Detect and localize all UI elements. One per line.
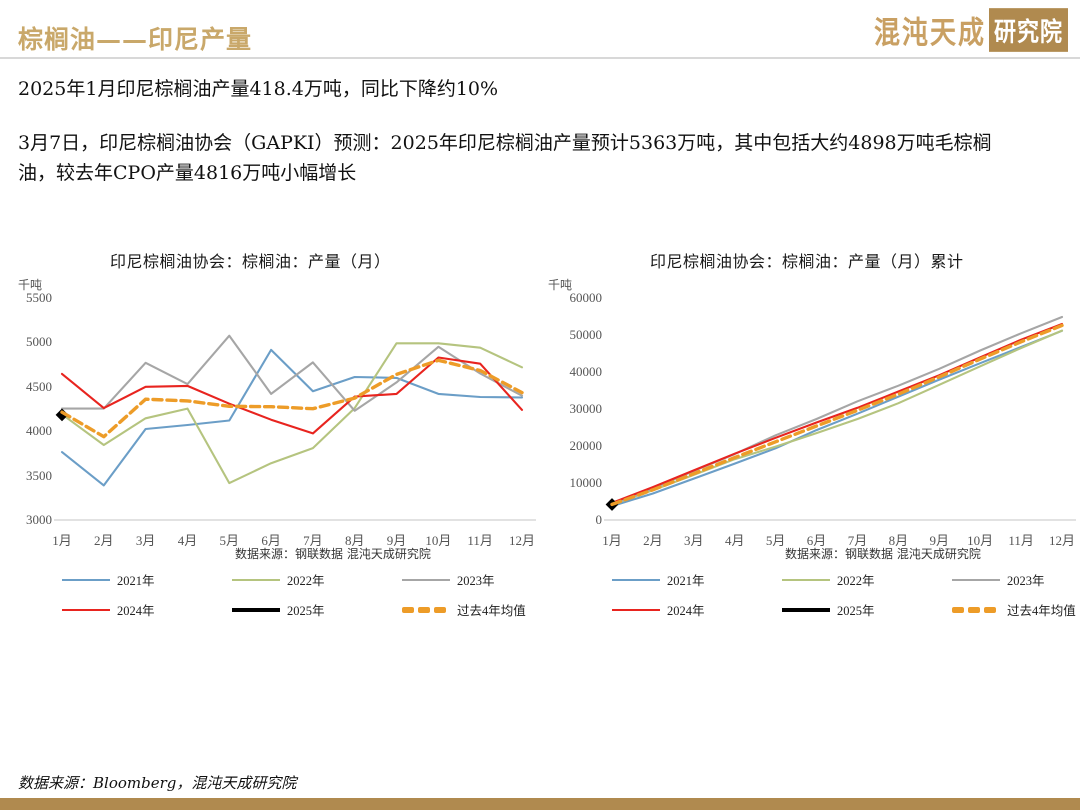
legend-swatch bbox=[232, 608, 280, 612]
x-axis-tick: 3月 bbox=[136, 530, 156, 549]
legend-swatch bbox=[782, 608, 830, 612]
x-axis-tick: 5月 bbox=[220, 530, 240, 549]
x-axis-tick: 12月 bbox=[509, 530, 535, 549]
y-axis-tick: 20000 bbox=[542, 438, 602, 454]
x-axis-tick: 11月 bbox=[1008, 530, 1034, 549]
legend-label: 2025年 bbox=[287, 600, 325, 619]
legend-label: 2025年 bbox=[837, 600, 875, 619]
legend-monthly: 2021年2022年2023年2024年2025年过去4年均值 bbox=[62, 570, 577, 619]
y-axis-tick: 10000 bbox=[542, 475, 602, 491]
legend-swatch bbox=[62, 579, 110, 581]
legend-swatch bbox=[952, 579, 1000, 581]
legend-item[interactable]: 过去4年均值 bbox=[952, 600, 1080, 619]
legend-swatch bbox=[612, 579, 660, 581]
summary-paragraph-1: 2025年1月印尼棕榈油产量418.4万吨，同比下降约10% bbox=[18, 74, 1028, 104]
x-axis-tick: 1月 bbox=[602, 530, 622, 549]
chart-title-cumulative: 印尼棕榈油协会：棕榈油：产量（月）累计 bbox=[540, 248, 1080, 272]
plot-area-monthly bbox=[0, 270, 540, 560]
x-axis-tick: 5月 bbox=[766, 530, 786, 549]
x-axis-tick: 10月 bbox=[967, 530, 993, 549]
legend-label: 过去4年均值 bbox=[1007, 600, 1076, 619]
x-axis-tick: 8月 bbox=[889, 530, 909, 549]
summary-paragraph-2: 3月7日，印尼棕榈油协会（GAPKI）预测：2025年印尼棕榈油产量预计5363… bbox=[18, 128, 1028, 188]
x-axis-tick: 9月 bbox=[930, 530, 950, 549]
chart-cumulative-production: 印尼棕榈油协会：棕榈油：产量（月）累计 千吨 数据来源：钢联数据 混沌天成研究院… bbox=[540, 240, 1080, 620]
legend-swatch bbox=[232, 579, 280, 581]
x-axis-tick: 10月 bbox=[425, 530, 451, 549]
x-axis-tick: 3月 bbox=[684, 530, 704, 549]
y-axis-tick: 50000 bbox=[542, 327, 602, 343]
x-axis-tick: 2月 bbox=[643, 530, 663, 549]
legend-label: 2023年 bbox=[1007, 570, 1045, 589]
logo-institute-badge: 研究院 bbox=[989, 8, 1068, 52]
legend-item[interactable]: 2025年 bbox=[782, 600, 952, 619]
logo-seal-text: 混沌天成 bbox=[874, 8, 986, 52]
x-axis-tick: 7月 bbox=[303, 530, 323, 549]
x-axis-tick: 9月 bbox=[387, 530, 407, 549]
legend-item[interactable]: 2024年 bbox=[62, 600, 232, 619]
x-axis-tick: 11月 bbox=[467, 530, 493, 549]
y-axis-tick: 30000 bbox=[542, 401, 602, 417]
chart-monthly-production: 印尼棕榈油协会：棕榈油：产量（月） 千吨 数据来源：钢联数据 混沌天成研究院 2… bbox=[0, 240, 540, 620]
x-axis-tick: 1月 bbox=[52, 530, 72, 549]
legend-label: 过去4年均值 bbox=[457, 600, 526, 619]
company-logo: 混沌天成 研究院 bbox=[874, 8, 1068, 52]
legend-label: 2024年 bbox=[667, 600, 705, 619]
y-axis-tick: 4500 bbox=[0, 379, 52, 395]
legend-item[interactable]: 2024年 bbox=[612, 600, 782, 619]
legend-item[interactable]: 2025年 bbox=[232, 600, 402, 619]
x-axis-tick: 6月 bbox=[807, 530, 827, 549]
series-line bbox=[62, 336, 522, 411]
y-axis-tick: 40000 bbox=[542, 364, 602, 380]
x-axis-tick: 2月 bbox=[94, 530, 114, 549]
legend-label: 2022年 bbox=[837, 570, 875, 589]
legend-swatch-dashed bbox=[402, 606, 450, 613]
legend-item[interactable]: 2022年 bbox=[782, 570, 952, 589]
series-line bbox=[612, 324, 1062, 503]
y-axis-tick: 3000 bbox=[0, 512, 52, 528]
y-axis-tick: 5000 bbox=[0, 334, 52, 350]
legend-item[interactable]: 2023年 bbox=[952, 570, 1080, 589]
y-axis-tick: 0 bbox=[542, 512, 602, 528]
legend-swatch bbox=[612, 609, 660, 611]
page-title: 棕榈油——印尼产量 bbox=[18, 20, 252, 56]
legend-label: 2022年 bbox=[287, 570, 325, 589]
series-line bbox=[62, 350, 522, 486]
footer-source: 数据来源：Bloomberg，混沌天成研究院 bbox=[18, 772, 296, 793]
plot-area-cumulative bbox=[540, 270, 1080, 560]
x-axis-tick: 6月 bbox=[261, 530, 281, 549]
legend-label: 2024年 bbox=[117, 600, 155, 619]
legend-item[interactable]: 2021年 bbox=[612, 570, 782, 589]
footer-bar bbox=[0, 798, 1080, 810]
legend-item[interactable]: 2022年 bbox=[232, 570, 402, 589]
page-header: 棕榈油——印尼产量 混沌天成 研究院 bbox=[0, 0, 1080, 58]
legend-swatch-dashed bbox=[952, 606, 1000, 613]
x-axis-tick: 4月 bbox=[178, 530, 198, 549]
legend-swatch bbox=[402, 579, 450, 581]
x-axis-tick: 4月 bbox=[725, 530, 745, 549]
legend-item[interactable]: 2021年 bbox=[62, 570, 232, 589]
x-axis-tick: 8月 bbox=[345, 530, 365, 549]
chart-title-monthly: 印尼棕榈油协会：棕榈油：产量（月） bbox=[0, 248, 540, 272]
y-axis-tick: 3500 bbox=[0, 468, 52, 484]
legend-swatch bbox=[782, 579, 830, 581]
y-axis-tick: 5500 bbox=[0, 290, 52, 306]
header-divider bbox=[0, 57, 1080, 59]
legend-swatch bbox=[62, 609, 110, 611]
y-axis-tick: 4000 bbox=[0, 423, 52, 439]
y-axis-tick: 60000 bbox=[542, 290, 602, 306]
legend-label: 2021年 bbox=[117, 570, 155, 589]
x-axis-tick: 12月 bbox=[1049, 530, 1075, 549]
legend-label: 2021年 bbox=[667, 570, 705, 589]
legend-label: 2023年 bbox=[457, 570, 495, 589]
x-axis-tick: 7月 bbox=[848, 530, 868, 549]
legend-cumulative: 2021年2022年2023年2024年2025年过去4年均值 bbox=[612, 570, 1080, 619]
